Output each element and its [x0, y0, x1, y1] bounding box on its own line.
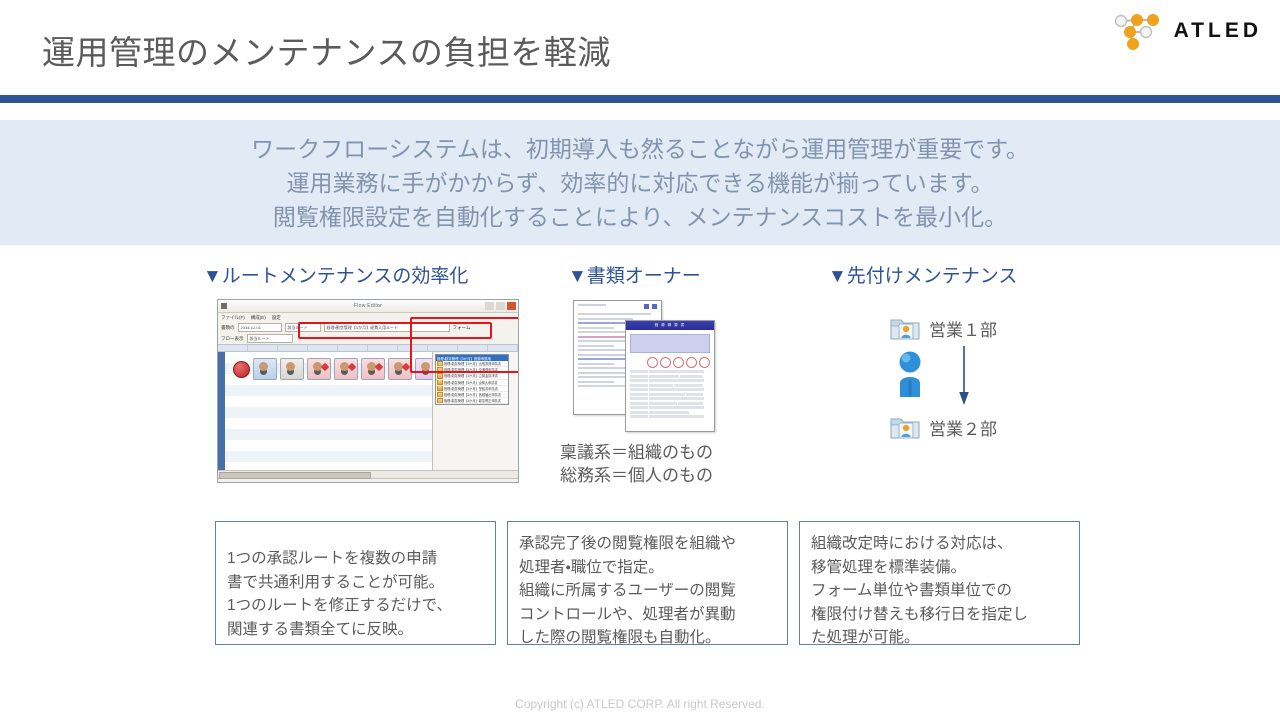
palette-diamond-complete[interactable]	[459, 482, 481, 483]
flow-node[interactable]	[361, 358, 385, 380]
flow-editor-app-title: Flow Editor	[218, 303, 518, 309]
palette-node-branch[interactable]	[291, 482, 311, 483]
toolbar-label-flowview: フロー表示	[221, 336, 244, 342]
toolbar-route-select[interactable]: 該当ルート	[247, 334, 293, 343]
horizontal-scrollbar[interactable]	[218, 470, 518, 478]
stamp-circle-icon	[673, 357, 684, 368]
toolbar-label-form: フォーム	[453, 325, 471, 331]
route-icon	[437, 373, 443, 379]
palette-node-circulate[interactable]	[337, 482, 357, 483]
heart-glyph-icon	[402, 363, 410, 371]
caption-line-1: 稟議系＝組織のもの	[560, 441, 713, 464]
menu-item-file[interactable]: ファイル(F)	[221, 315, 245, 321]
folder-user-icon	[890, 414, 920, 440]
heart-glyph-icon	[348, 363, 356, 371]
stamp-circle-icon	[660, 357, 671, 368]
flow-editor-toolbar-row-1[interactable]: 書類の 2014-12-01 該当ルート 経理・勤怠管理【3か月】経費入用ルート…	[218, 322, 518, 333]
palette-node-apply[interactable]	[222, 482, 242, 483]
note-line: 1つのルートを修正するだけで、	[227, 594, 484, 618]
canvas-grid[interactable]	[225, 352, 432, 470]
note-line: 組織に所属するユーザーの閲覧	[519, 579, 776, 603]
org-to-label: 営業２部	[929, 415, 997, 440]
flow-editor-titlebar: Flow Editor	[218, 300, 518, 313]
lead-line-1: ワークフローシステムは、初期導入も然ることながら運用管理が重要です。	[251, 132, 1029, 166]
route-icon	[437, 392, 443, 398]
heart-glyph-icon	[375, 363, 383, 371]
toolbar-label-document: 書類の	[221, 325, 235, 331]
canvas-row-gutter	[218, 352, 225, 470]
org-from-label: 営業１部	[929, 316, 997, 341]
route-icon	[437, 367, 443, 373]
menu-item-settings[interactable]: 設定	[272, 315, 281, 321]
brand-logo-text: ATLED	[1174, 19, 1262, 43]
flow-editor-menubar[interactable]: ファイル(F) 構成(E) 設定	[218, 313, 518, 322]
flow-node[interactable]	[388, 358, 412, 380]
person-glyph-icon	[259, 362, 268, 371]
note-box-advance: 組織改定時における対応は、 移管処理を標準装備。 フォーム単位や書類単位での 権…	[799, 521, 1080, 645]
note-line: 1つの承認ルートを複数の申請	[227, 547, 484, 571]
palette-node-approve[interactable]	[245, 482, 265, 483]
page-title: 運用管理のメンテナンスの負担を軽減	[42, 26, 611, 74]
flow-editor-screenshot: Flow Editor ファイル(F) 構成(E) 設定 書類の 2014-12…	[217, 299, 519, 483]
document-front-table	[630, 370, 710, 418]
arrow-down-icon	[956, 346, 972, 406]
dropdown-option[interactable]: 経理・勤怠管理【3か月】勤怠修正申請書	[436, 398, 508, 404]
column-heading-document-owner: ▼書類オーナー	[568, 261, 701, 288]
close-icon[interactable]	[507, 302, 516, 310]
menu-item-edit[interactable]: 構成(E)	[251, 315, 266, 321]
flow-node[interactable]	[280, 358, 304, 380]
flow-editor-side-panel[interactable]: 経理・勤怠管理【3か月】経費申請用 経理・勤怠管理【3か月】出張旅費申請書 経理…	[432, 352, 518, 470]
toolbar-dot-icon	[644, 304, 649, 309]
stamp-circle-icon	[686, 357, 697, 368]
route-icon	[437, 361, 443, 367]
heart-glyph-icon	[321, 363, 329, 371]
note-box-route: 1つの承認ルートを複数の申請 書で共通利用することが可能。 1つのルートを修正す…	[215, 521, 496, 645]
palette-node-decide[interactable]	[360, 482, 380, 483]
document-front-title: 経 費 精 算 書	[655, 323, 685, 328]
lead-line-3: 閲覧権限設定を自動化することにより、メンテナンスコストを最小化。	[273, 200, 1007, 234]
person-icon	[894, 350, 926, 398]
toolbar-route-name-field[interactable]: 経理・勤怠管理【3か月】経費入用ルート	[324, 323, 450, 332]
document-owner-caption: 稟議系＝組織のもの 総務系＝個人のもの	[560, 441, 713, 487]
column-heading-route-maintenance: ▼ルートメンテナンスの効率化	[203, 261, 468, 288]
stamp-circle-icon	[647, 357, 658, 368]
caption-line-2: 総務系＝個人のもの	[560, 464, 713, 487]
note-line: 移管処理を標準装備。	[811, 556, 1068, 580]
palette-diamond-condition[interactable]	[419, 482, 441, 483]
note-line: 処理者・職位で指定。	[519, 556, 776, 580]
route-dropdown-list[interactable]: 経理・勤怠管理【3か月】経費申請用 経理・勤怠管理【3か月】出張旅費申請書 経理…	[435, 354, 509, 405]
palette-node-confirm[interactable]	[314, 482, 334, 483]
flow-node[interactable]	[253, 358, 277, 380]
flow-node[interactable]	[307, 358, 331, 380]
flow-editor-canvas[interactable]: 経理・勤怠管理【3か月】経費申請用 経理・勤怠管理【3か月】出張旅費申請書 経理…	[218, 352, 518, 470]
org-transfer-middle	[894, 346, 1090, 410]
person-glyph-icon	[421, 362, 430, 371]
document-front-block	[630, 334, 710, 353]
document-front-title-bar: 経 費 精 算 書	[626, 321, 714, 330]
note-line: フォーム単位や書類単位での	[811, 579, 1068, 603]
note-line: した際の閲覧権限も自動化。	[519, 626, 776, 650]
palette-diamond-branch[interactable]	[380, 482, 402, 483]
org-to-row: 営業２部	[890, 414, 1090, 440]
stamp-circle-icon	[699, 357, 710, 368]
note-line: 書で共通利用することが可能。	[227, 571, 484, 595]
person-glyph-icon	[286, 362, 295, 371]
org-transfer-diagram: 営業１部 営業２部	[890, 315, 1090, 480]
footer-copyright: Copyright (c) ATLED CORP. All right Rese…	[0, 697, 1280, 711]
toolbar-date-field[interactable]: 2014-12-01	[238, 323, 282, 332]
folder-user-icon	[890, 315, 920, 341]
route-icon	[437, 380, 443, 386]
palette-diamond-return[interactable]	[399, 482, 421, 483]
palette-node-joint[interactable]	[268, 482, 288, 483]
note-line: た処理が可能。	[811, 626, 1068, 650]
note-line: 関連する書類全てに反映。	[227, 618, 484, 642]
header-divider	[0, 95, 1280, 103]
brand-logo: ATLED	[1110, 10, 1262, 52]
lead-banner: ワークフローシステムは、初期導入も然ることながら運用管理が重要です。 運用業務に…	[0, 120, 1280, 245]
route-icon	[437, 398, 443, 404]
flow-node[interactable]	[334, 358, 358, 380]
document-front: 経 費 精 算 書	[625, 320, 715, 432]
note-line: 承認完了後の閲覧権限を組織や	[519, 532, 776, 556]
lead-line-2: 運用業務に手がかからず、効率的に対応できる機能が揃っています。	[286, 166, 993, 200]
canvas-ruler	[218, 344, 518, 352]
note-line: 組織改定時における対応は、	[811, 532, 1068, 556]
note-line: 権限付け替えも移行日を指定し	[811, 603, 1068, 627]
palette-diamond-auto[interactable]	[439, 482, 461, 483]
window-controls[interactable]	[485, 302, 516, 310]
maximize-icon[interactable]	[496, 302, 505, 310]
column-heading-advance-maintenance: ▼先付けメンテナンス	[828, 261, 1017, 288]
document-back-header	[574, 301, 661, 309]
minimize-icon[interactable]	[485, 302, 494, 310]
note-line: コントロールや、処理者が異動	[519, 603, 776, 627]
approval-stamp-row	[630, 357, 710, 368]
document-stack: 経 費 精 算 書	[573, 300, 723, 430]
route-icon	[437, 386, 443, 392]
flow-editor-toolbar-row-2[interactable]: フロー表示 該当ルート	[218, 333, 518, 344]
flow-node-start[interactable]	[233, 361, 250, 378]
toolbar-route-label-field[interactable]: 該当ルート	[285, 323, 321, 332]
palette-diamond-autoapprove[interactable]	[479, 482, 501, 483]
toolbar-dot-icon	[652, 304, 657, 309]
org-from-row: 営業１部	[890, 315, 1090, 341]
scrollbar-thumb[interactable]	[219, 472, 371, 479]
flow-node-row[interactable]	[233, 358, 439, 380]
atled-node-graph-logo-icon	[1110, 10, 1168, 52]
note-box-owner: 承認完了後の閲覧権限を組織や 処理者・職位で指定。 組織に所属するユーザーの閲覧…	[507, 521, 788, 645]
